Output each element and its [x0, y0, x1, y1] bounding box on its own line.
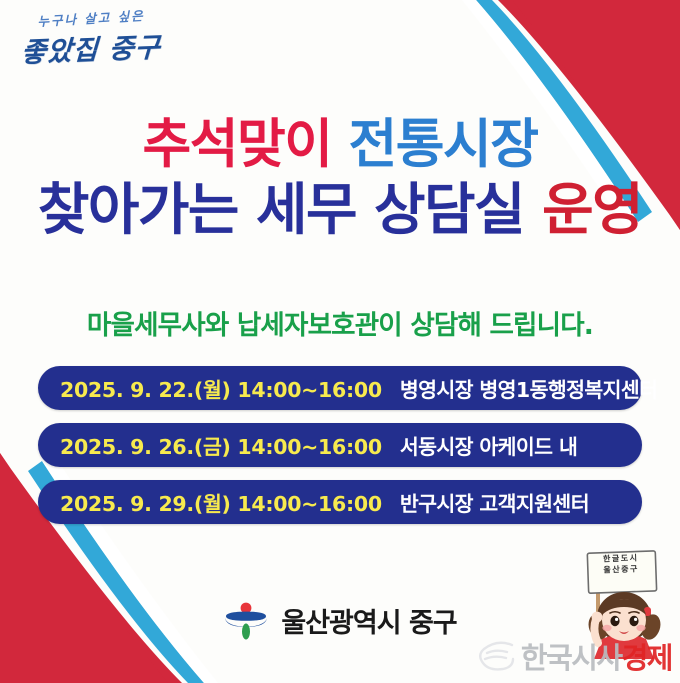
- schedule-location: 병영시장 병영1동행정복지센터: [400, 373, 658, 403]
- schedule-list: 2025. 9. 22.(월) 14:00~16:00 병영시장 병영1동행정복…: [38, 366, 642, 537]
- schedule-location: 반구시장 고객지원센터: [400, 487, 589, 517]
- brand-logo: 누구나 살고 싶은 좋았집 중구: [16, 8, 166, 76]
- watermark-text-gray: 한국시사: [521, 641, 622, 675]
- mascot-sign-text: 한글도시 울산중구: [592, 553, 651, 577]
- schedule-row: 2025. 9. 22.(월) 14:00~16:00 병영시장 병영1동행정복…: [38, 366, 642, 410]
- wave-globe-icon: [479, 641, 515, 671]
- mascot-sign-line-2: 울산중구: [592, 564, 650, 577]
- footer-org-name: 울산광역시 중구: [281, 601, 456, 640]
- schedule-datetime: 2025. 9. 26.(금) 14:00~16:00: [60, 430, 382, 460]
- poster-canvas: 누구나 살고 싶은 좋았집 중구 추석맞이 전통시장 찾아가는 세무 상담실 운…: [0, 0, 680, 683]
- subtitle-text: 마을세무사와 납세자보호관이 상담해 드립니다.: [0, 303, 680, 342]
- watermark-text-red: 경제: [622, 641, 672, 675]
- schedule-row: 2025. 9. 29.(월) 14:00~16:00 반구시장 고객지원센터: [38, 480, 642, 524]
- brand-name: 좋았집 중구: [15, 25, 167, 70]
- schedule-datetime: 2025. 9. 29.(월) 14:00~16:00: [60, 487, 382, 517]
- headline-market: 전통시장: [348, 114, 537, 175]
- ulsan-emblem-icon: [223, 600, 269, 640]
- headline-operation: 운영: [542, 178, 642, 243]
- headline-line-1: 추석맞이 전통시장: [0, 118, 680, 172]
- headline-block: 추석맞이 전통시장 찾아가는 세무 상담실 운영: [0, 118, 680, 239]
- headline-chuseok: 추석맞이: [142, 114, 331, 175]
- headline-line-2: 찾아가는 세무 상담실 운영: [0, 182, 680, 239]
- schedule-row: 2025. 9. 26.(금) 14:00~16:00 서동시장 아케이드 내: [38, 423, 642, 467]
- press-watermark: 한국시사경제: [479, 635, 672, 677]
- headline-tax-office: 찾아가는 세무 상담실: [38, 178, 524, 243]
- schedule-location: 서동시장 아케이드 내: [400, 430, 577, 460]
- schedule-datetime: 2025. 9. 22.(월) 14:00~16:00: [60, 373, 382, 403]
- watermark-text: 한국시사경제: [521, 635, 672, 677]
